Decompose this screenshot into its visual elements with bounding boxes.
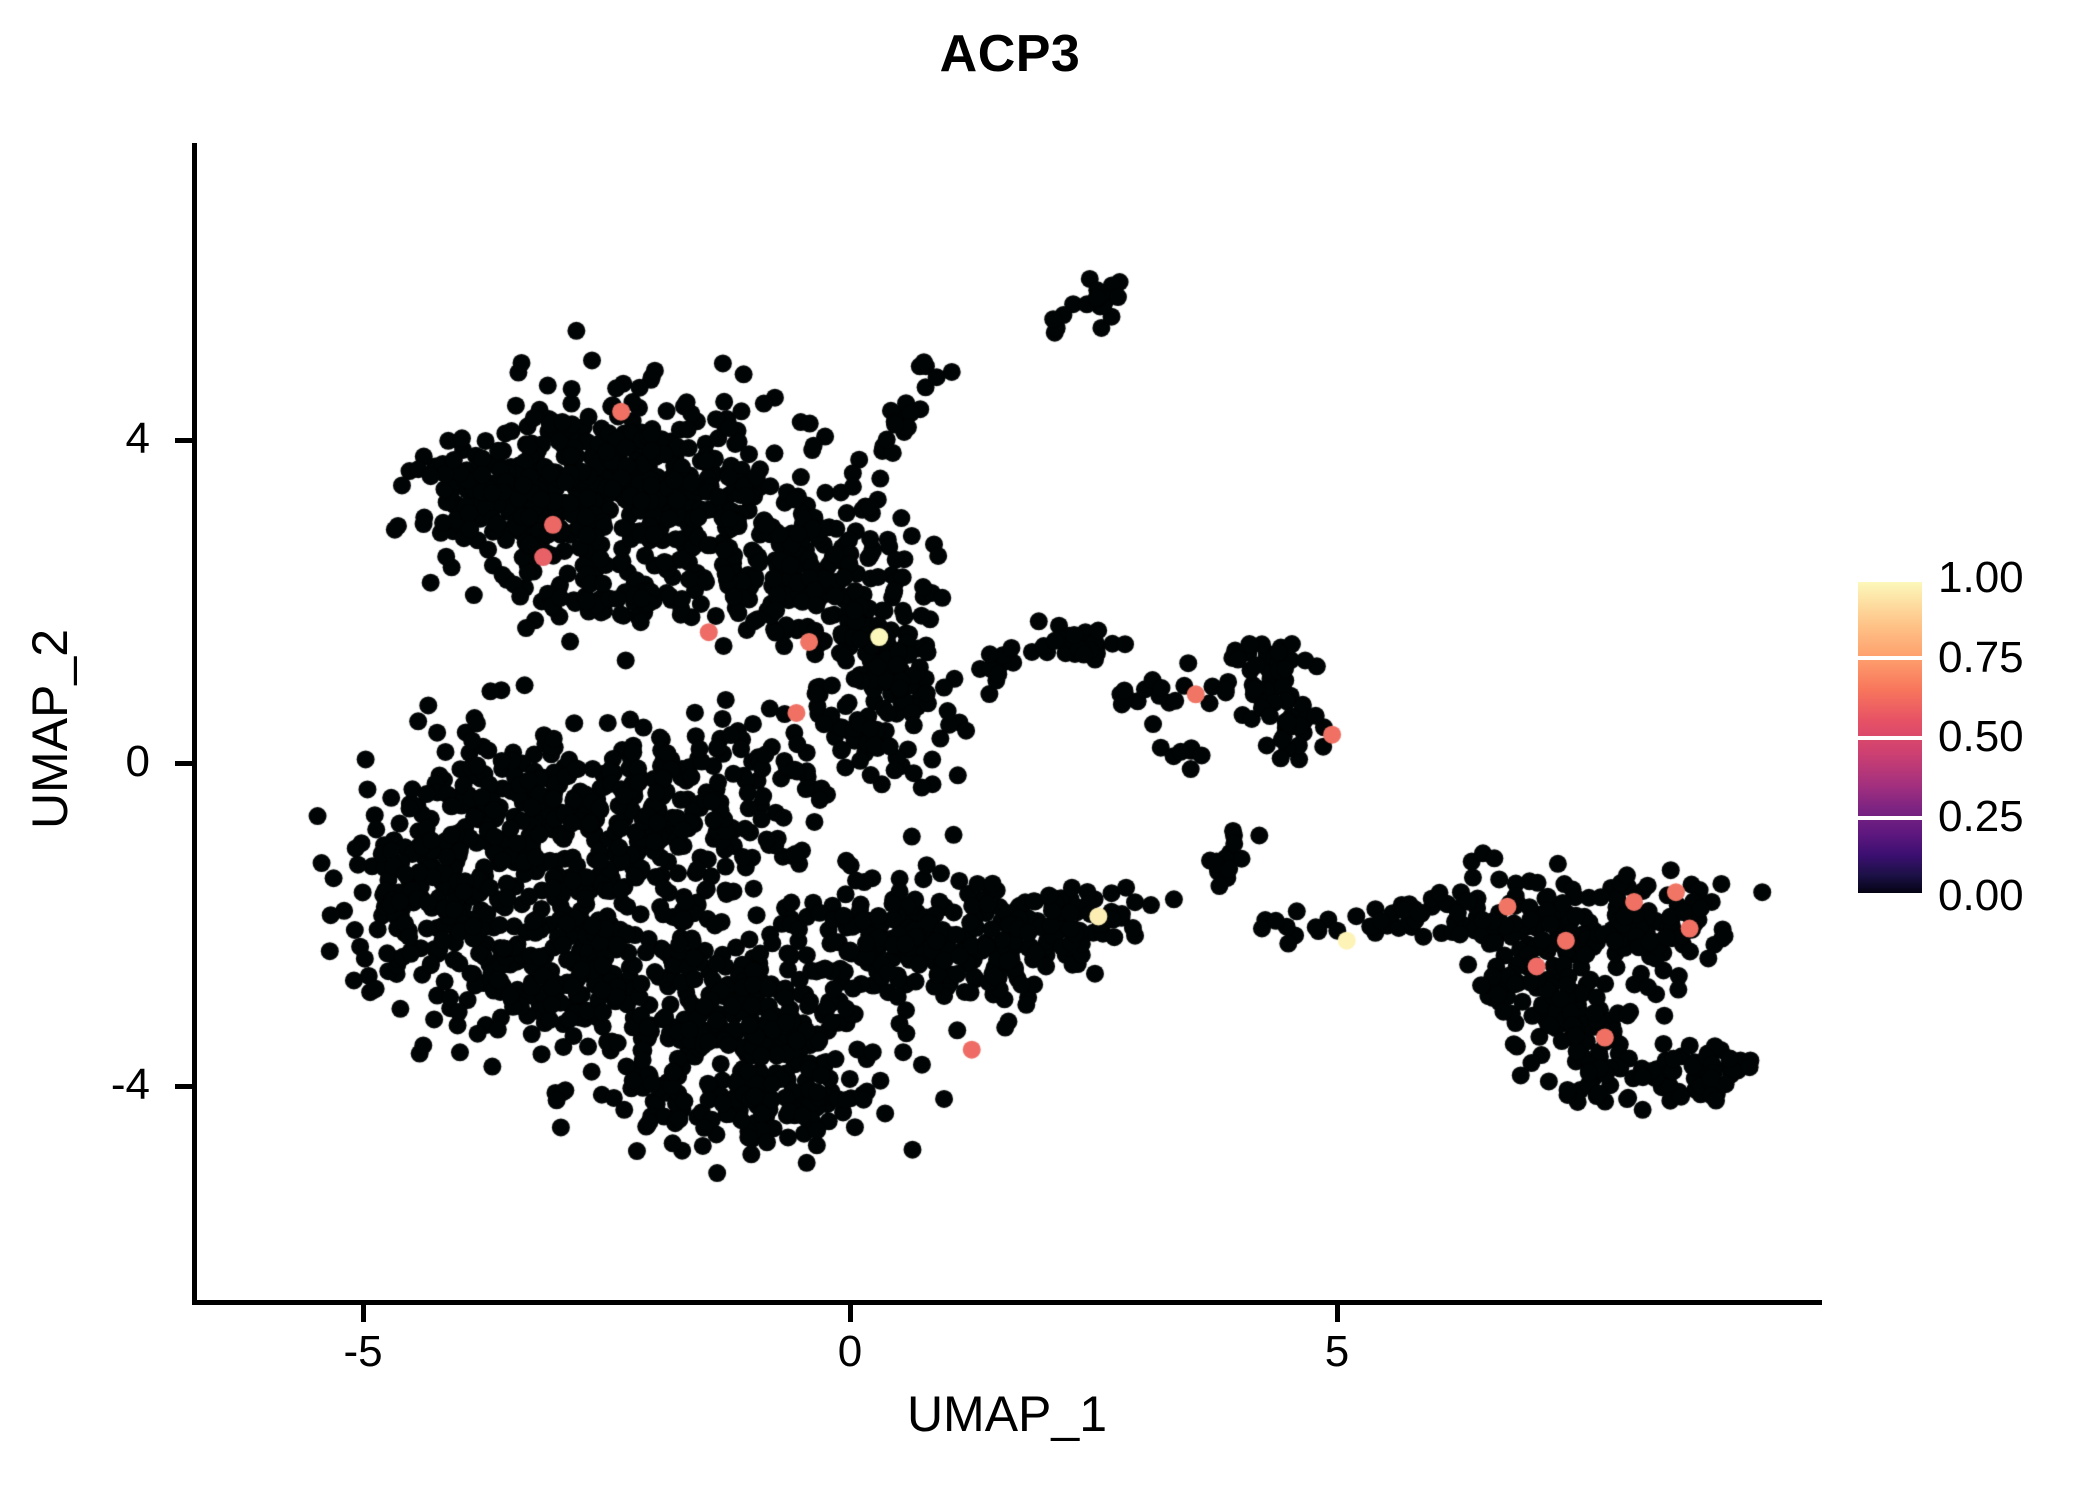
umap-feature-plot: ACP3 4 0 -4 -5 0 5 UMAP_2 UMAP_1 1.00 0.… [0, 0, 2100, 1500]
colorbar-label-0.50: 0.50 [1938, 715, 2024, 759]
x-tick-mark-0 [848, 1305, 853, 1322]
colorbar-label-0.00: 0.00 [1938, 874, 2024, 918]
y-tick-mark-4 [175, 438, 192, 443]
colorbar-gradient [1858, 578, 1922, 897]
colorbar-tick-0.75 [1858, 656, 1922, 660]
colorbar-label-0.25: 0.25 [1938, 795, 2024, 839]
y-axis-line [192, 143, 197, 1305]
x-tick-mark-5 [1335, 1305, 1340, 1322]
y-tick-mark--4 [175, 1084, 192, 1089]
colorbar-label-1.00: 1.00 [1938, 556, 2024, 600]
x-axis-title: UMAP_1 [192, 1385, 1822, 1443]
colorbar-label-0.75: 0.75 [1938, 636, 2024, 680]
colorbar-tick-0.00 [1858, 893, 1922, 897]
colorbar-tick-0.50 [1858, 736, 1922, 740]
colorbar-tick-1.00 [1858, 578, 1922, 582]
colorbar-tick-0.25 [1858, 816, 1922, 820]
scatter-canvas [0, 0, 2100, 1500]
x-tick-label-5: 5 [1257, 1330, 1417, 1374]
x-axis-line [192, 1300, 1822, 1305]
plot-panel: 4 0 -4 -5 0 5 UMAP_2 UMAP_1 [0, 0, 2100, 1500]
x-tick-label--5: -5 [283, 1330, 443, 1374]
y-tick-mark-0 [175, 761, 192, 766]
x-tick-label-0: 0 [770, 1330, 930, 1374]
colorbar-legend: 1.00 0.75 0.50 0.25 0.00 [1858, 578, 2088, 908]
x-tick-mark--5 [361, 1305, 366, 1322]
y-tick-label-4: 4 [30, 417, 150, 461]
y-tick-label--4: -4 [30, 1063, 150, 1107]
y-axis-title: UMAP_2 [21, 529, 79, 929]
